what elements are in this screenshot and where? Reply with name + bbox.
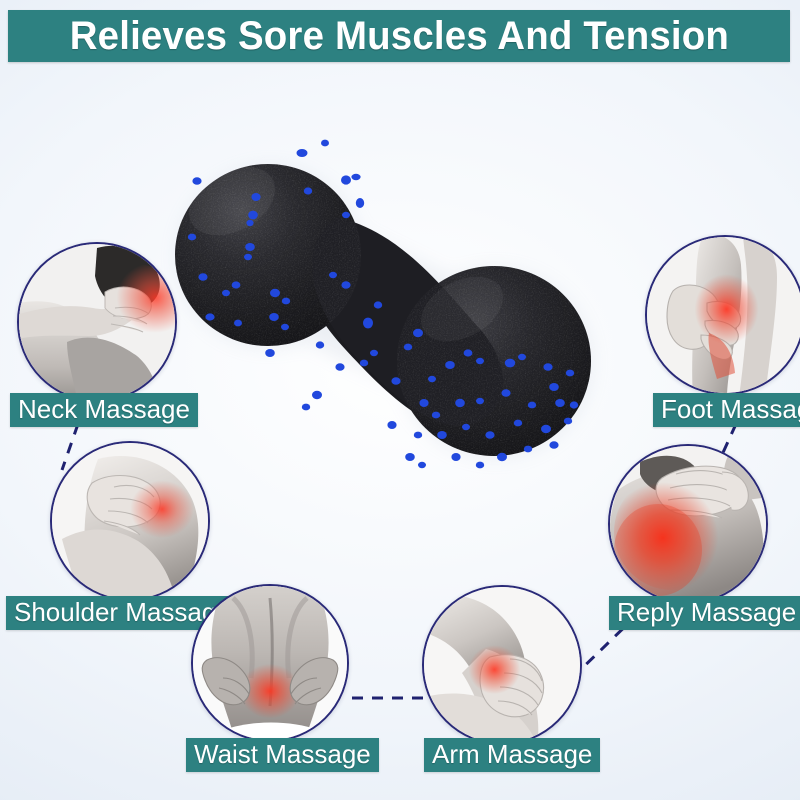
label-neck-massage: Neck Massage: [10, 393, 198, 427]
label-reply-massage: Reply Massage: [609, 596, 800, 630]
waist-massage-photo: [193, 586, 347, 740]
feature-bubble-shoulder[interactable]: [50, 441, 210, 601]
foot-massage-photo: [647, 237, 800, 393]
feature-bubble-arm[interactable]: [422, 585, 582, 745]
page-title: Relieves Sore Muscles And Tension: [69, 16, 728, 56]
feature-bubble-neck[interactable]: [17, 242, 177, 402]
feature-bubble-reply[interactable]: [608, 444, 768, 604]
feature-bubble-foot[interactable]: [645, 235, 800, 395]
product-image: [150, 105, 620, 505]
peanut-massage-ball-graphic: [150, 105, 620, 505]
header-banner: Relieves Sore Muscles And Tension: [8, 10, 790, 62]
feature-bubble-waist[interactable]: [191, 584, 349, 742]
reply-massage-photo: [610, 446, 766, 602]
shoulder-massage-photo: [52, 443, 208, 599]
label-waist-massage: Waist Massage: [186, 738, 379, 772]
product-infographic-poster: Relieves Sore Muscles And Tension: [0, 0, 800, 800]
label-arm-massage: Arm Massage: [424, 738, 600, 772]
arm-massage-photo: [424, 587, 580, 743]
label-foot-massage: Foot Massage: [653, 393, 800, 427]
neck-massage-photo: [19, 244, 175, 400]
